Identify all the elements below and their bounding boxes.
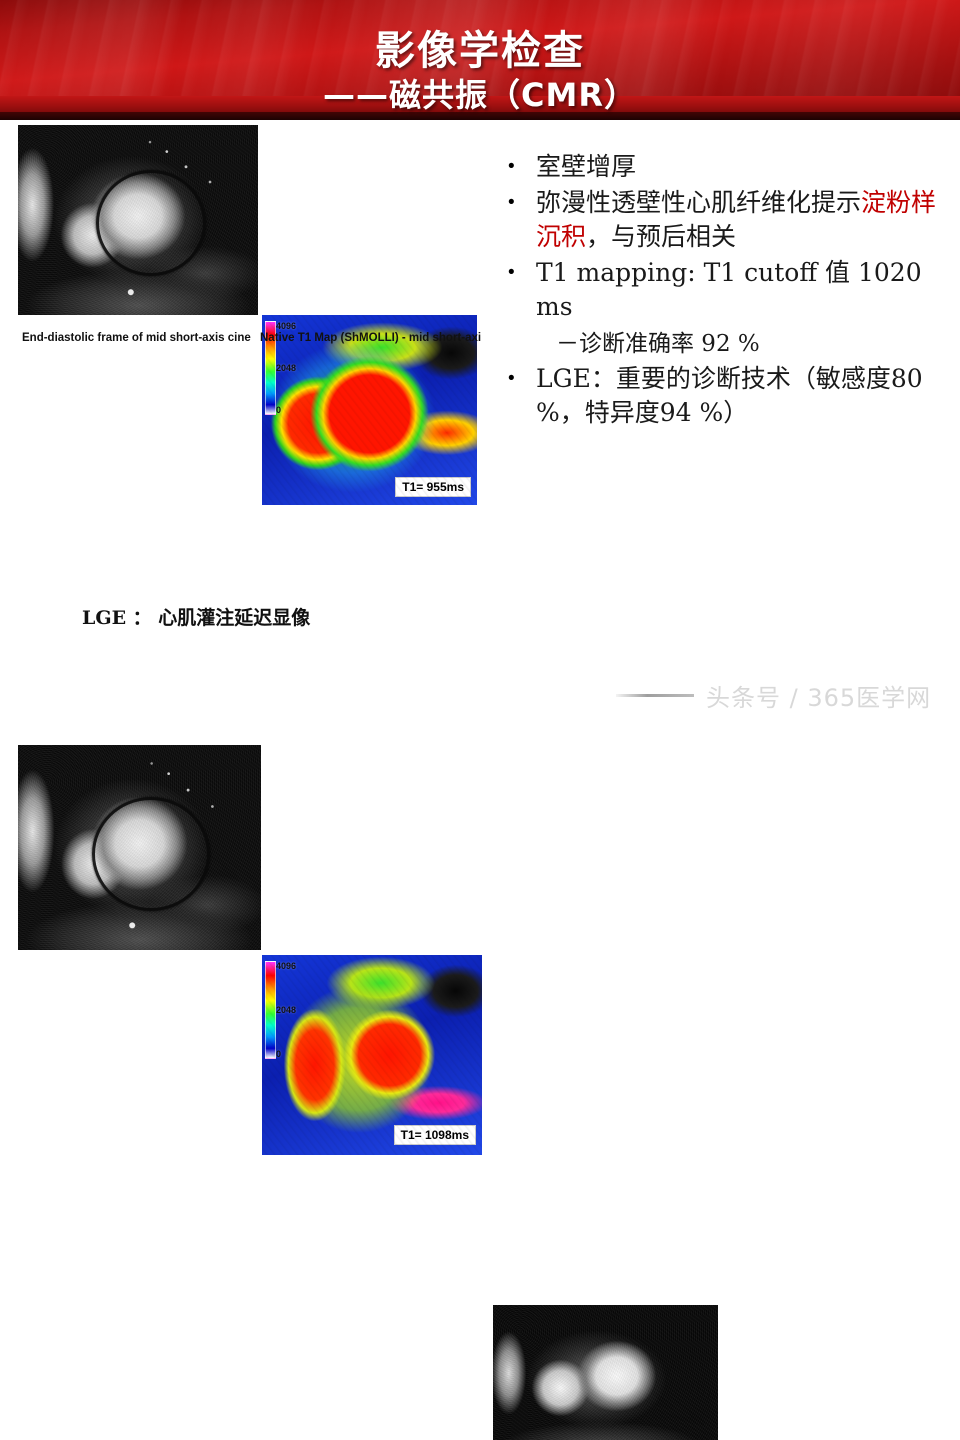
mri-noise-texture — [493, 1305, 718, 1440]
slide-title-secondary: ——磁共振（CMR） — [0, 70, 960, 116]
bullet-list: • 室壁增厚 • 弥漫性透壁性心肌纤维化提示淀粉样沉积，与预后相关 • T1 m… — [500, 150, 950, 432]
bullet-item-3: • T1 mapping: T1 cutoff 值 1020 ms — [500, 256, 950, 324]
t1-colorbar — [265, 961, 276, 1059]
bullet-marker-icon: • — [500, 186, 536, 220]
slide-title-primary: 影像学检查 — [0, 18, 960, 76]
caption-t1map-top: Native T1 Map (ShMOLLI) - mid short-axi — [260, 332, 481, 344]
bullet-item-1: • 室壁增厚 — [500, 150, 950, 184]
cine-mri-bottom-left-image — [18, 745, 261, 950]
bullet-sub-item-accuracy: －诊断准确率 92 % — [556, 326, 950, 362]
colorbar-label-mid: 2048 — [276, 1005, 296, 1015]
roi-contour-ring — [96, 170, 206, 276]
t1-value-tag-top: T1= 955ms — [395, 477, 471, 497]
bullet-marker-icon: • — [500, 256, 536, 290]
cine-mri-top-left-image — [18, 125, 258, 315]
bullet-item-4: • LGE：重要的诊断技术（敏感度80 %，特异度94 %） — [500, 362, 950, 430]
colorbar-label-min: 0 — [276, 1049, 281, 1059]
footer-divider-line — [616, 694, 694, 697]
colorbar-label-max: 4096 — [276, 321, 296, 331]
roi-contour-ring — [92, 797, 210, 911]
mri-noise-texture — [18, 125, 258, 315]
bullet-1-seg-1: 室壁增厚 — [536, 152, 636, 181]
bullet-marker-icon: • — [500, 362, 536, 396]
native-t1-map-bottom-right-image: 4096 2048 0 T1= 1098ms — [262, 955, 482, 1155]
bullet-marker-icon: • — [500, 150, 536, 184]
bullet-2-seg-3: ，与预后相关 — [586, 222, 736, 251]
footer-watermark: 头条号 / 365医学网 — [706, 678, 931, 713]
colorbar-label-min: 0 — [276, 405, 281, 415]
colorbar-label-max: 4096 — [276, 961, 296, 971]
t1-value-tag-bottom: T1= 1098ms — [394, 1125, 476, 1145]
bullet-text-3: T1 mapping: T1 cutoff 值 1020 ms — [536, 256, 950, 324]
bullet-2-seg-1: 弥漫性透壁性心肌纤维化提示 — [536, 188, 861, 217]
caption-cine-top: End-diastolic frame of mid short-axis ci… — [22, 332, 251, 344]
bullet-text-4: LGE：重要的诊断技术（敏感度80 %，特异度94 %） — [536, 362, 950, 430]
bullet-item-2: • 弥漫性透壁性心肌纤维化提示淀粉样沉积，与预后相关 — [500, 186, 950, 254]
lge-image-left — [493, 1305, 718, 1440]
bullet-text-1: 室壁增厚 — [536, 150, 950, 184]
lge-caption: LGE ： 心肌灌注延迟显像 — [82, 603, 310, 630]
mri-noise-texture — [18, 745, 261, 950]
colorbar-label-mid: 2048 — [276, 363, 296, 373]
bullet-text-2: 弥漫性透壁性心肌纤维化提示淀粉样沉积，与预后相关 — [536, 186, 950, 254]
